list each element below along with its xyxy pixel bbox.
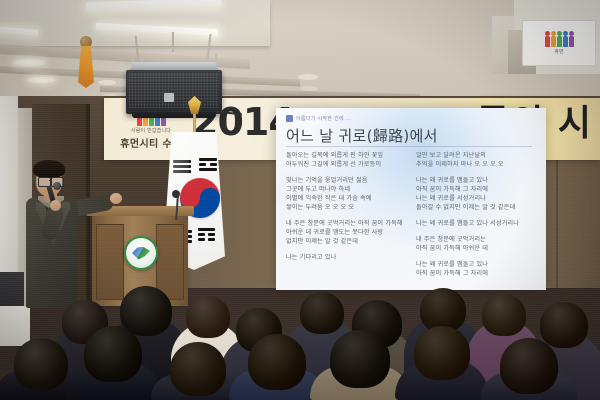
podium-mic-head-icon bbox=[172, 190, 180, 198]
audience-member-head bbox=[170, 342, 226, 396]
audience-member-head bbox=[330, 330, 390, 388]
presenter-hair bbox=[33, 160, 65, 178]
slide-left-stanza: 빛나는 기억을 웅얼거리던 젊음그곳에 두고 떠나야 하네이별에 익숙한 작은 … bbox=[286, 177, 406, 213]
audience-member-head bbox=[248, 334, 306, 390]
slide-left-line: 쌓이는 두려움 오 오 오 오 bbox=[286, 204, 406, 213]
slide-tag-text: 아름다기 시작한 간에 … bbox=[296, 115, 351, 122]
audience-member-head bbox=[186, 296, 230, 338]
slide-left-stanza: 돌아오는 길목에 외롭게 핀 하얀 꽃잎어두워진 그길에 외롭게 선 가로등이 bbox=[286, 152, 406, 170]
ceiling-downlight bbox=[298, 74, 318, 80]
eyeglasses-bridge bbox=[49, 180, 51, 181]
corner-sign-label: 휴먼 bbox=[554, 48, 563, 55]
slide-tag-bullet-icon bbox=[286, 115, 293, 122]
slide-left-line: 돌아오는 길목에 외롭게 핀 하얀 꽃잎 bbox=[286, 152, 406, 161]
speaker-suspension-wire bbox=[172, 32, 174, 52]
audience-member-head bbox=[500, 338, 558, 394]
slide-right-line: 나는 왜 귀로를 맴돌고 있나 bbox=[416, 177, 536, 186]
slide-right-line: 추억을 이제하지 마나 오 오 오 오 bbox=[416, 161, 536, 170]
speaker-grille bbox=[129, 73, 219, 108]
slide-right-line: 돌아갈 수 없지만 이제는 알 것 같은데 bbox=[416, 204, 536, 213]
slide-title-rule bbox=[286, 146, 532, 147]
slide-right-line: 아직 꿈이 가득해 그 자리에 bbox=[416, 186, 536, 195]
speaker-brand-badge bbox=[164, 93, 174, 102]
slide-right-line: 나는 왜 귀로를 서성거리나 bbox=[416, 195, 536, 204]
slide-right-line: 나는 왜 귀로를 맴돌고 있나 서성거리나 bbox=[416, 220, 536, 229]
presenter-right-hand bbox=[110, 193, 122, 204]
audience-member-head bbox=[14, 338, 68, 390]
ceiling-speaker bbox=[126, 70, 222, 114]
slide-right-stanza: 나는 왜 귀로를 맴돌고 있나아직 꿈이 가득해 그 자리에나는 왜 귀로를 서… bbox=[416, 177, 536, 213]
slide-right-line: 얼만 보고 달려온 지난날의 bbox=[416, 152, 536, 161]
microphone-head-icon bbox=[53, 182, 61, 190]
wall-logo-sign: 휴먼 bbox=[522, 20, 596, 66]
slide-left-line: 이별에 익숙한 작은 내 가슴 속에 bbox=[286, 195, 406, 204]
slide-right-stanza: 얼만 보고 달려온 지난날의추억을 이제하지 마나 오 오 오 오 bbox=[416, 152, 536, 170]
slide-tag: 아름다기 시작한 간에 … bbox=[286, 115, 351, 122]
slide-title: 어느 날 귀로(歸路)에서 bbox=[286, 125, 438, 146]
audience-member-head bbox=[120, 286, 172, 336]
audience-member-head bbox=[300, 292, 344, 334]
slide-left-line: 그곳에 두고 떠나야 하네 bbox=[286, 186, 406, 195]
slide-left-line: 내 주은 창문에 굿먹거리는 아직 꿈이 가득해 bbox=[286, 220, 406, 229]
audience-member-head bbox=[540, 302, 588, 348]
slide-right-stanza: 나는 왜 귀로를 맴돌고 있나 서성거리나 bbox=[416, 220, 536, 229]
human-city-logo-icon bbox=[545, 31, 574, 47]
ceiling-vent bbox=[296, 58, 330, 63]
ceiling-downlight bbox=[300, 86, 318, 91]
audience-member-head bbox=[482, 294, 526, 336]
audience bbox=[0, 230, 600, 400]
banner-logo-subtitle: 사람이 반갑습니다 bbox=[131, 127, 171, 134]
presentation-photo-scene: 휴먼 사람이 반갑습니다 휴먼시티 수원 2014 통의 시 bbox=[0, 0, 600, 400]
ceiling-downlight bbox=[98, 80, 116, 85]
speaker-base bbox=[132, 112, 216, 118]
ceiling-downlight bbox=[26, 76, 56, 84]
presenter-left-hand bbox=[50, 200, 61, 211]
audience-member-head bbox=[84, 326, 142, 382]
slide-left-line: 어두워진 그길에 외롭게 선 가로등이 bbox=[286, 161, 406, 170]
ceiling-downlight bbox=[12, 58, 46, 67]
audience-member-head bbox=[414, 326, 470, 380]
slide-left-line: 빛나는 기억을 웅얼거리던 젊음 bbox=[286, 177, 406, 186]
